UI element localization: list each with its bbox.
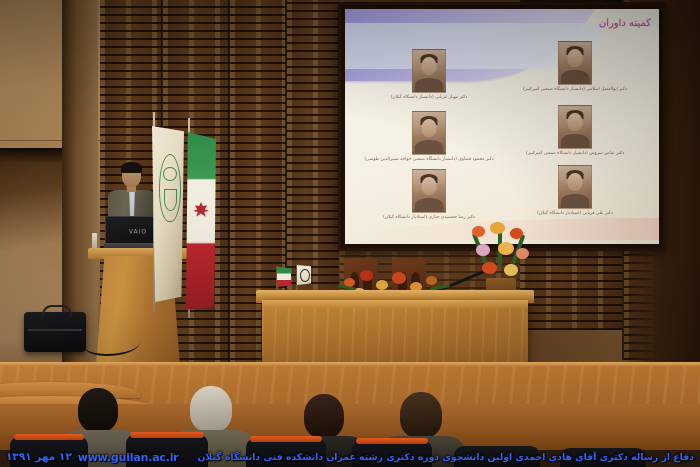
- banner-left-group: www.guilan.ac.ir ۱۲ مهر ۱۳۹۱: [6, 451, 179, 464]
- website-url[interactable]: www.guilan.ac.ir: [78, 451, 179, 464]
- event-caption: دفاع از رساله دکتری آقای هادی احمدی اولی…: [197, 452, 694, 463]
- screenshot-photo: کمیته داوران دکتر مهیار عربانی (دانشیار …: [0, 0, 700, 467]
- scene-vignette: [0, 0, 700, 400]
- caption-banner: www.guilan.ac.ir ۱۲ مهر ۱۳۹۱ دفاع از رسا…: [0, 447, 700, 467]
- event-date: ۱۲ مهر ۱۳۹۱: [6, 451, 72, 463]
